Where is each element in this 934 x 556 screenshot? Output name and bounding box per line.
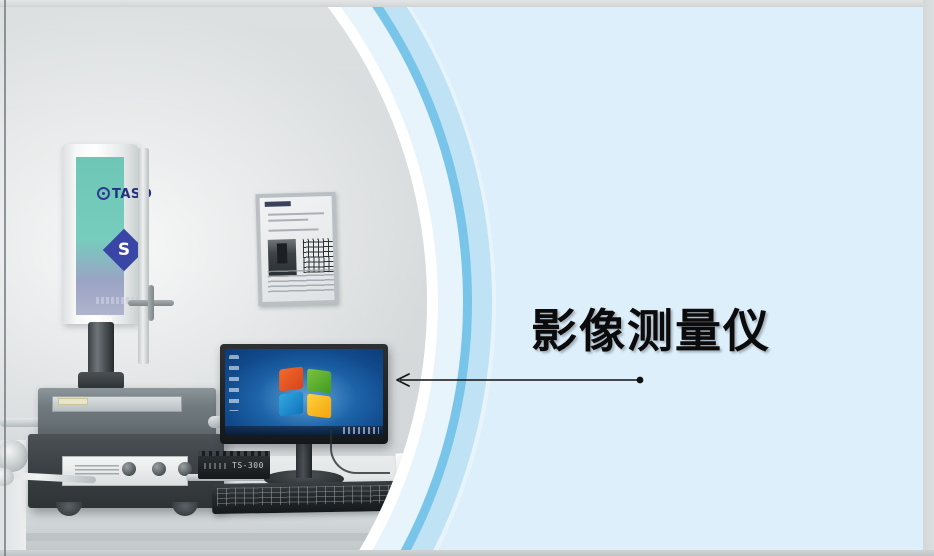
diamond-badge-letter: S bbox=[109, 235, 139, 265]
machine-panel-knob bbox=[152, 462, 166, 476]
page-edge-top bbox=[0, 0, 934, 7]
windows-flag-quadrant-yellow bbox=[307, 394, 331, 419]
dot-icon bbox=[637, 377, 644, 384]
slide-canvas: TASO S 台硕·检测 bbox=[0, 0, 934, 556]
machine-column: TASO S 台硕·检测 bbox=[62, 144, 138, 324]
monitor-screen bbox=[225, 349, 383, 435]
target-ring-icon bbox=[97, 187, 110, 200]
page-title: 影像测量仪 bbox=[531, 305, 771, 358]
controller-indicator-lights bbox=[204, 463, 226, 469]
monitor-stand-neck bbox=[296, 444, 312, 478]
controller-model-label: TS-300 bbox=[232, 461, 264, 470]
machine-control-panel-text bbox=[75, 465, 119, 475]
wall-poster-sheet bbox=[260, 196, 335, 302]
wall-poster-paragraph bbox=[268, 269, 335, 295]
machine-panel-knob bbox=[122, 462, 136, 476]
windows-flag-quadrant-blue bbox=[279, 392, 303, 417]
page-edge-bottom bbox=[0, 550, 934, 556]
photo-clip-region: TASO S 台硕·检测 bbox=[0, 0, 460, 556]
computer-monitor bbox=[220, 344, 388, 444]
machine-lens bbox=[88, 322, 114, 374]
keyboard bbox=[212, 480, 427, 514]
desktop-icon-column bbox=[229, 355, 239, 411]
wall-poster-text-line bbox=[268, 228, 318, 231]
wall-poster-grid-chart bbox=[303, 238, 334, 273]
windows-flag-icon bbox=[279, 368, 333, 418]
keyboard-keys bbox=[217, 484, 427, 506]
wall-poster-text-line bbox=[268, 219, 308, 222]
photo-table-edge bbox=[0, 533, 427, 541]
controller-heatsink bbox=[198, 451, 270, 456]
wall-poster-text-line bbox=[268, 212, 324, 216]
controller-box: TS-300 bbox=[198, 455, 270, 479]
windows-flag-quadrant-red bbox=[279, 367, 303, 392]
page-edge-left-rule bbox=[4, 0, 6, 556]
wall-poster-title-bar bbox=[265, 201, 291, 207]
windows-flag-quadrant-green bbox=[307, 369, 331, 394]
desk-paper-sheet bbox=[395, 451, 427, 476]
wall-poster bbox=[255, 192, 338, 306]
machine-photograph: TASO S 台硕·检测 bbox=[0, 0, 427, 556]
machine-focus-knob-vertical bbox=[148, 285, 154, 321]
page-edge-right bbox=[923, 0, 934, 556]
machine-warning-sticker bbox=[58, 398, 88, 405]
photo-arc-mask: TASO S 台硕·检测 bbox=[0, 0, 427, 556]
monitor-cable bbox=[330, 430, 390, 474]
machine-front-panel: TASO S 台硕·检测 bbox=[76, 157, 124, 315]
machine-side-rail bbox=[138, 148, 149, 364]
